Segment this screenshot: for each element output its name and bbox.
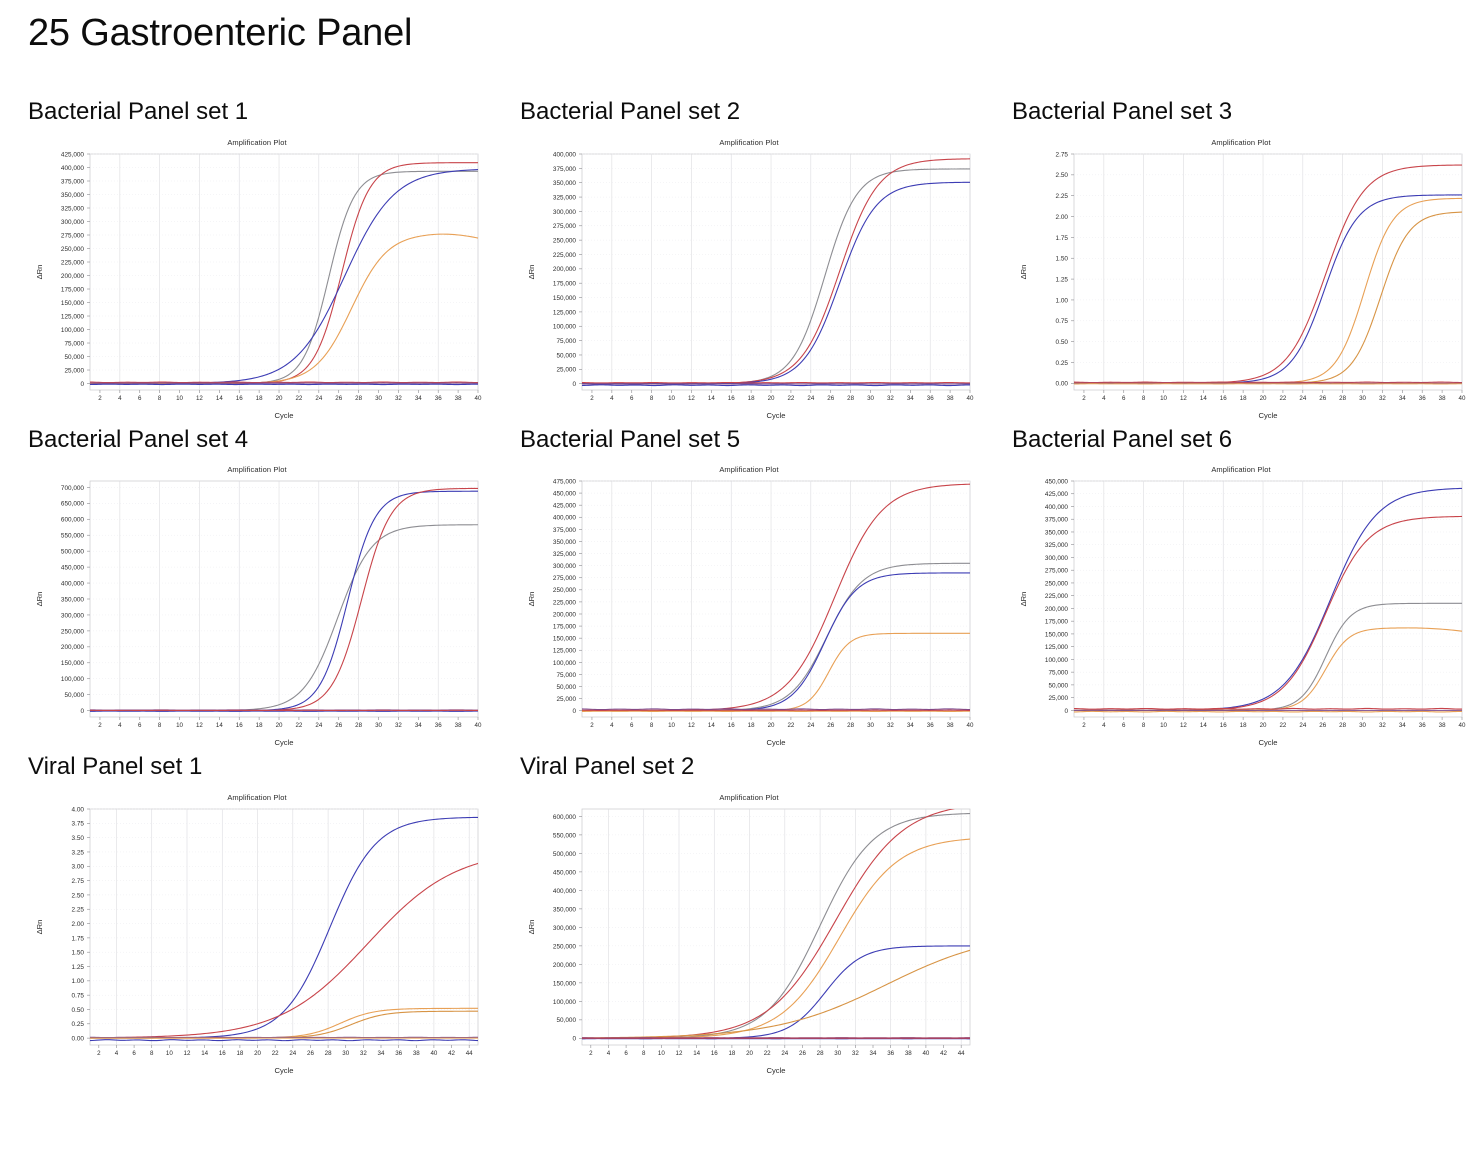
y-tick-label: 75,000 bbox=[1048, 670, 1068, 677]
x-tick-label: 30 bbox=[1359, 722, 1366, 729]
x-tick-label: 34 bbox=[378, 1050, 385, 1057]
x-tick-label: 36 bbox=[435, 395, 442, 402]
x-tick-label: 38 bbox=[455, 395, 462, 402]
x-tick-label: 38 bbox=[413, 1050, 420, 1057]
y-tick-label: 0.25 bbox=[72, 1021, 85, 1028]
y-tick-label: 400,000 bbox=[61, 164, 85, 171]
y-tick-label: 175,000 bbox=[553, 624, 577, 631]
panel-heading: Bacterial Panel set 1 bbox=[28, 98, 492, 126]
panel-bacterial-panel-set-4: Bacterial Panel set 4Amplification Plot0… bbox=[0, 426, 492, 754]
x-tick-label: 20 bbox=[768, 395, 775, 402]
y-tick-label: 200,000 bbox=[553, 962, 577, 969]
amplification-plot[interactable]: Amplification Plot0.000.250.500.751.001.… bbox=[28, 789, 486, 1081]
x-tick-label: 32 bbox=[887, 395, 894, 402]
x-tick-label: 4 bbox=[607, 1050, 611, 1057]
x-tick-label: 20 bbox=[1260, 395, 1267, 402]
amplification-plot-svg: 025,00050,00075,000100,000125,000150,000… bbox=[520, 134, 978, 426]
panel-bacterial-panel-set-2: Bacterial Panel set 2Amplification Plot0… bbox=[492, 98, 984, 426]
x-tick-label: 18 bbox=[236, 1050, 243, 1057]
panel-heading: Bacterial Panel set 6 bbox=[1012, 426, 1476, 454]
plot-area bbox=[90, 154, 478, 390]
x-axis-ticks: 246810121416182022242628303234363840 bbox=[590, 390, 974, 402]
x-tick-label: 28 bbox=[847, 722, 854, 729]
x-tick-label: 8 bbox=[650, 395, 654, 402]
x-axis-ticks: 2468101214161820222426283032343638404244 bbox=[589, 1045, 965, 1057]
x-tick-label: 36 bbox=[1419, 722, 1426, 729]
y-axis-ticks: 0.000.250.500.751.001.251.501.752.002.25… bbox=[1056, 151, 1074, 387]
x-tick-label: 2 bbox=[98, 395, 102, 402]
x-tick-label: 26 bbox=[799, 1050, 806, 1057]
x-tick-label: 40 bbox=[430, 1050, 437, 1057]
x-tick-label: 26 bbox=[335, 722, 342, 729]
series-baseline-red bbox=[1074, 709, 1462, 710]
y-tick-label: 325,000 bbox=[61, 205, 85, 212]
y-tick-label: 450,000 bbox=[1045, 479, 1069, 486]
x-axis-label: Cycle bbox=[767, 738, 786, 747]
plot-area bbox=[582, 154, 970, 390]
x-tick-label: 44 bbox=[466, 1050, 473, 1057]
y-axis-label: ΔRn bbox=[1019, 592, 1028, 607]
x-tick-label: 24 bbox=[315, 395, 322, 402]
y-tick-label: 225,000 bbox=[553, 599, 577, 606]
y-tick-label: 25,000 bbox=[1048, 695, 1068, 702]
amplification-plot[interactable]: Amplification Plot025,00050,00075,000100… bbox=[28, 134, 486, 426]
y-tick-label: 550,000 bbox=[61, 533, 85, 540]
x-tick-label: 12 bbox=[688, 395, 695, 402]
x-tick-label: 34 bbox=[907, 395, 914, 402]
y-axis-ticks: 050,000100,000150,000200,000250,000300,0… bbox=[61, 485, 90, 715]
y-tick-label: 225,000 bbox=[1045, 593, 1069, 600]
y-tick-label: 250,000 bbox=[1045, 581, 1069, 588]
x-tick-label: 32 bbox=[887, 722, 894, 729]
x-tick-label: 8 bbox=[642, 1050, 646, 1057]
x-tick-label: 2 bbox=[589, 1050, 593, 1057]
x-tick-label: 20 bbox=[276, 722, 283, 729]
y-tick-label: 25,000 bbox=[556, 366, 576, 373]
page-root: 25 Gastroenteric Panel Bacterial Panel s… bbox=[0, 0, 1476, 1155]
x-tick-label: 8 bbox=[158, 722, 162, 729]
y-tick-label: 600,000 bbox=[61, 517, 85, 524]
x-tick-label: 40 bbox=[922, 1050, 929, 1057]
y-tick-label: 50,000 bbox=[556, 1017, 576, 1024]
y-tick-label: 50,000 bbox=[556, 352, 576, 359]
y-tick-label: 150,000 bbox=[553, 295, 577, 302]
x-tick-label: 34 bbox=[415, 395, 422, 402]
y-tick-label: 100,000 bbox=[553, 999, 577, 1006]
y-tick-label: 150,000 bbox=[61, 660, 85, 667]
y-tick-label: 0.00 bbox=[1056, 380, 1069, 387]
x-tick-label: 6 bbox=[1122, 722, 1126, 729]
y-tick-label: 450,000 bbox=[553, 869, 577, 876]
x-tick-label: 16 bbox=[236, 395, 243, 402]
x-tick-label: 34 bbox=[1399, 722, 1406, 729]
plot-area bbox=[90, 481, 478, 717]
panel-heading: Bacterial Panel set 3 bbox=[1012, 98, 1476, 126]
x-tick-label: 12 bbox=[688, 722, 695, 729]
x-tick-label: 38 bbox=[455, 722, 462, 729]
x-tick-label: 26 bbox=[1319, 722, 1326, 729]
x-tick-label: 16 bbox=[1220, 722, 1227, 729]
y-tick-label: 425,000 bbox=[553, 503, 577, 510]
x-tick-label: 4 bbox=[1102, 395, 1106, 402]
y-axis-label: ΔRn bbox=[35, 919, 44, 934]
x-tick-label: 34 bbox=[907, 722, 914, 729]
x-tick-label: 24 bbox=[315, 722, 322, 729]
x-tick-label: 18 bbox=[748, 395, 755, 402]
y-tick-label: 2.75 bbox=[1056, 151, 1069, 158]
y-tick-label: 125,000 bbox=[1045, 644, 1069, 651]
y-tick-label: 425,000 bbox=[61, 151, 85, 158]
x-tick-label: 14 bbox=[1200, 722, 1207, 729]
amplification-plot[interactable]: Amplification Plot050,000100,000150,0002… bbox=[520, 789, 978, 1081]
x-tick-label: 26 bbox=[827, 395, 834, 402]
x-tick-label: 42 bbox=[940, 1050, 947, 1057]
x-tick-label: 42 bbox=[448, 1050, 455, 1057]
x-tick-label: 2 bbox=[1082, 722, 1086, 729]
y-tick-label: 0 bbox=[80, 708, 84, 715]
x-tick-label: 28 bbox=[355, 395, 362, 402]
x-axis-label: Cycle bbox=[1259, 411, 1278, 420]
panel-heading: Viral Panel set 2 bbox=[520, 753, 984, 781]
y-tick-label: 400,000 bbox=[553, 515, 577, 522]
x-tick-label: 24 bbox=[781, 1050, 788, 1057]
y-tick-label: 2.25 bbox=[1056, 193, 1069, 200]
amplification-plot-svg: 0.000.250.500.751.001.251.501.752.002.25… bbox=[28, 789, 486, 1081]
y-tick-label: 150,000 bbox=[61, 300, 85, 307]
y-tick-label: 250,000 bbox=[61, 628, 85, 635]
y-tick-label: 325,000 bbox=[1045, 542, 1069, 549]
x-axis-label: Cycle bbox=[275, 411, 294, 420]
x-tick-label: 36 bbox=[927, 722, 934, 729]
x-tick-label: 32 bbox=[360, 1050, 367, 1057]
y-tick-label: 0 bbox=[572, 1036, 576, 1043]
x-axis-label: Cycle bbox=[767, 411, 786, 420]
x-tick-label: 32 bbox=[395, 395, 402, 402]
y-tick-label: 2.50 bbox=[1056, 172, 1069, 179]
x-tick-label: 14 bbox=[708, 395, 715, 402]
y-axis-ticks: 050,000100,000150,000200,000250,000300,0… bbox=[553, 814, 582, 1043]
y-tick-label: 50,000 bbox=[64, 692, 84, 699]
x-tick-label: 22 bbox=[1279, 722, 1286, 729]
x-tick-label: 18 bbox=[1240, 722, 1247, 729]
x-tick-label: 16 bbox=[219, 1050, 226, 1057]
y-tick-label: 700,000 bbox=[61, 485, 85, 492]
x-tick-label: 22 bbox=[295, 722, 302, 729]
amplification-plot[interactable]: Amplification Plot0.000.250.500.751.001.… bbox=[1012, 134, 1470, 426]
y-tick-label: 100,000 bbox=[61, 327, 85, 334]
y-tick-label: 1.00 bbox=[1056, 297, 1069, 304]
x-tick-label: 34 bbox=[870, 1050, 877, 1057]
y-tick-label: 150,000 bbox=[1045, 632, 1069, 639]
amplification-plot[interactable]: Amplification Plot025,00050,00075,000100… bbox=[520, 134, 978, 426]
x-tick-label: 22 bbox=[1279, 395, 1286, 402]
x-axis-label: Cycle bbox=[275, 738, 294, 747]
page-title: 25 Gastroenteric Panel bbox=[28, 12, 412, 55]
x-tick-label: 32 bbox=[1379, 722, 1386, 729]
x-axis-ticks: 246810121416182022242628303234363840 bbox=[1082, 390, 1466, 402]
amplification-plot-svg: 025,00050,00075,000100,000125,000150,000… bbox=[1012, 461, 1470, 753]
y-tick-label: 1.75 bbox=[1056, 234, 1069, 241]
x-tick-label: 2 bbox=[590, 395, 594, 402]
y-tick-label: 400,000 bbox=[61, 581, 85, 588]
x-axis-ticks: 246810121416182022242628303234363840 bbox=[590, 717, 974, 729]
x-tick-label: 4 bbox=[610, 722, 614, 729]
y-tick-label: 125,000 bbox=[553, 648, 577, 655]
y-tick-label: 1.00 bbox=[72, 978, 85, 985]
x-tick-label: 16 bbox=[728, 395, 735, 402]
x-tick-label: 22 bbox=[787, 722, 794, 729]
plot-area bbox=[1074, 154, 1462, 390]
y-tick-label: 350,000 bbox=[553, 906, 577, 913]
x-tick-label: 14 bbox=[708, 722, 715, 729]
y-axis-ticks: 025,00050,00075,000100,000125,000150,000… bbox=[553, 151, 582, 388]
y-tick-label: 200,000 bbox=[61, 644, 85, 651]
y-tick-label: 475,000 bbox=[553, 479, 577, 486]
x-tick-label: 38 bbox=[1439, 722, 1446, 729]
y-tick-label: 350,000 bbox=[553, 539, 577, 546]
panel-viral-panel-set-2: Viral Panel set 2Amplification Plot050,0… bbox=[492, 753, 984, 1081]
x-tick-label: 8 bbox=[1142, 395, 1146, 402]
y-tick-label: 25,000 bbox=[64, 367, 84, 374]
y-tick-label: 400,000 bbox=[1045, 504, 1069, 511]
x-tick-label: 14 bbox=[693, 1050, 700, 1057]
x-tick-label: 16 bbox=[1220, 395, 1227, 402]
y-tick-label: 600,000 bbox=[553, 814, 577, 821]
x-tick-label: 30 bbox=[867, 395, 874, 402]
y-tick-label: 275,000 bbox=[553, 575, 577, 582]
x-tick-label: 16 bbox=[711, 1050, 718, 1057]
x-tick-label: 6 bbox=[624, 1050, 628, 1057]
panel-bacterial-panel-set-3: Bacterial Panel set 3Amplification Plot0… bbox=[984, 98, 1476, 426]
x-tick-label: 6 bbox=[630, 722, 634, 729]
y-axis-ticks: 025,00050,00075,000100,000125,000150,000… bbox=[553, 479, 582, 716]
y-tick-label: 100,000 bbox=[553, 323, 577, 330]
x-tick-label: 44 bbox=[958, 1050, 965, 1057]
amplification-plot[interactable]: Amplification Plot025,00050,00075,000100… bbox=[1012, 461, 1470, 753]
y-tick-label: 500,000 bbox=[553, 851, 577, 858]
x-tick-label: 6 bbox=[138, 395, 142, 402]
y-tick-label: 1.75 bbox=[72, 935, 85, 942]
y-axis-label: ΔRn bbox=[35, 592, 44, 607]
amplification-plot-svg: 0.000.250.500.751.001.251.501.752.002.25… bbox=[1012, 134, 1470, 426]
x-tick-label: 10 bbox=[668, 395, 675, 402]
amplification-plot-svg: 025,00050,00075,000100,000125,000150,000… bbox=[520, 461, 978, 753]
y-tick-label: 375,000 bbox=[1045, 517, 1069, 524]
x-tick-label: 40 bbox=[475, 722, 482, 729]
x-tick-label: 12 bbox=[196, 395, 203, 402]
y-tick-label: 250,000 bbox=[61, 246, 85, 253]
panel-row: Bacterial Panel set 4Amplification Plot0… bbox=[0, 426, 1476, 754]
y-tick-label: 0.50 bbox=[72, 1007, 85, 1014]
y-tick-label: 350,000 bbox=[61, 597, 85, 604]
x-tick-label: 34 bbox=[415, 722, 422, 729]
y-tick-label: 0 bbox=[572, 708, 576, 715]
amplification-plot-svg: 050,000100,000150,000200,000250,000300,0… bbox=[520, 789, 978, 1081]
x-tick-label: 4 bbox=[118, 722, 122, 729]
x-tick-label: 6 bbox=[1122, 395, 1126, 402]
x-tick-label: 16 bbox=[728, 722, 735, 729]
x-tick-label: 36 bbox=[1419, 395, 1426, 402]
y-tick-label: 350,000 bbox=[553, 180, 577, 187]
x-tick-label: 28 bbox=[355, 722, 362, 729]
panel-grid: Bacterial Panel set 1Amplification Plot0… bbox=[0, 98, 1476, 1081]
x-tick-label: 24 bbox=[289, 1050, 296, 1057]
x-axis-label: Cycle bbox=[767, 1066, 786, 1075]
x-tick-label: 2 bbox=[590, 722, 594, 729]
panel-row: Bacterial Panel set 1Amplification Plot0… bbox=[0, 98, 1476, 426]
x-tick-label: 18 bbox=[256, 722, 263, 729]
x-tick-label: 10 bbox=[1160, 722, 1167, 729]
y-tick-label: 0.75 bbox=[1056, 318, 1069, 325]
y-tick-label: 325,000 bbox=[553, 194, 577, 201]
panel-row: Viral Panel set 1Amplification Plot0.000… bbox=[0, 753, 1476, 1081]
y-tick-label: 550,000 bbox=[553, 832, 577, 839]
y-tick-label: 375,000 bbox=[553, 165, 577, 172]
y-tick-label: 75,000 bbox=[556, 672, 576, 679]
x-tick-label: 14 bbox=[201, 1050, 208, 1057]
y-tick-label: 125,000 bbox=[553, 309, 577, 316]
x-tick-label: 6 bbox=[138, 722, 142, 729]
y-tick-label: 250,000 bbox=[553, 587, 577, 594]
y-tick-label: 500,000 bbox=[61, 549, 85, 556]
x-tick-label: 20 bbox=[746, 1050, 753, 1057]
amplification-plot-svg: 025,00050,00075,000100,000125,000150,000… bbox=[28, 134, 486, 426]
x-tick-label: 18 bbox=[748, 722, 755, 729]
x-tick-label: 12 bbox=[676, 1050, 683, 1057]
y-tick-label: 375,000 bbox=[553, 527, 577, 534]
x-tick-label: 10 bbox=[176, 722, 183, 729]
x-tick-label: 10 bbox=[166, 1050, 173, 1057]
y-tick-label: 2.00 bbox=[72, 921, 85, 928]
panel-heading: Bacterial Panel set 5 bbox=[520, 426, 984, 454]
x-tick-label: 32 bbox=[852, 1050, 859, 1057]
x-tick-label: 4 bbox=[1102, 722, 1106, 729]
x-tick-label: 28 bbox=[847, 395, 854, 402]
amplification-plot[interactable]: Amplification Plot050,000100,000150,0002… bbox=[28, 461, 486, 753]
x-tick-label: 40 bbox=[967, 722, 974, 729]
panel-bacterial-panel-set-5: Bacterial Panel set 5Amplification Plot0… bbox=[492, 426, 984, 754]
x-tick-label: 38 bbox=[905, 1050, 912, 1057]
x-tick-label: 22 bbox=[295, 395, 302, 402]
x-tick-label: 36 bbox=[435, 722, 442, 729]
y-tick-label: 75,000 bbox=[556, 338, 576, 345]
y-axis-label: ΔRn bbox=[527, 919, 536, 934]
x-axis-label: Cycle bbox=[275, 1066, 294, 1075]
x-tick-label: 30 bbox=[834, 1050, 841, 1057]
y-tick-label: 300,000 bbox=[553, 208, 577, 215]
y-tick-label: 0.75 bbox=[72, 992, 85, 999]
x-tick-label: 14 bbox=[1200, 395, 1207, 402]
y-tick-label: 275,000 bbox=[1045, 568, 1069, 575]
x-tick-label: 18 bbox=[728, 1050, 735, 1057]
y-tick-label: 300,000 bbox=[61, 218, 85, 225]
x-tick-label: 22 bbox=[764, 1050, 771, 1057]
y-tick-label: 200,000 bbox=[553, 266, 577, 273]
amplification-plot-svg: 050,000100,000150,000200,000250,000300,0… bbox=[28, 461, 486, 753]
y-tick-label: 75,000 bbox=[64, 340, 84, 347]
y-axis-ticks: 025,00050,00075,000100,000125,000150,000… bbox=[61, 151, 90, 388]
x-axis-ticks: 246810121416182022242628303234363840 bbox=[98, 390, 482, 402]
x-tick-label: 18 bbox=[256, 395, 263, 402]
x-tick-label: 28 bbox=[325, 1050, 332, 1057]
y-tick-label: 250,000 bbox=[553, 943, 577, 950]
y-tick-label: 0.25 bbox=[1056, 359, 1069, 366]
x-axis-ticks: 246810121416182022242628303234363840 bbox=[98, 717, 482, 729]
x-tick-label: 12 bbox=[196, 722, 203, 729]
x-tick-label: 32 bbox=[395, 722, 402, 729]
y-tick-label: 175,000 bbox=[1045, 619, 1069, 626]
x-tick-label: 28 bbox=[1339, 722, 1346, 729]
y-tick-label: 150,000 bbox=[553, 980, 577, 987]
y-tick-label: 50,000 bbox=[1048, 682, 1068, 689]
y-tick-label: 200,000 bbox=[61, 273, 85, 280]
x-tick-label: 8 bbox=[150, 1050, 154, 1057]
y-tick-label: 25,000 bbox=[556, 696, 576, 703]
x-tick-label: 30 bbox=[375, 395, 382, 402]
panel-bacterial-panel-set-6: Bacterial Panel set 6Amplification Plot0… bbox=[984, 426, 1476, 754]
y-tick-label: 200,000 bbox=[553, 612, 577, 619]
y-tick-label: 1.25 bbox=[72, 964, 85, 971]
y-tick-label: 4.00 bbox=[72, 806, 85, 813]
x-tick-label: 26 bbox=[1319, 395, 1326, 402]
x-tick-label: 6 bbox=[630, 395, 634, 402]
y-tick-label: 250,000 bbox=[553, 237, 577, 244]
y-axis-label: ΔRn bbox=[35, 264, 44, 279]
x-tick-label: 10 bbox=[1160, 395, 1167, 402]
x-tick-label: 26 bbox=[307, 1050, 314, 1057]
x-tick-label: 2 bbox=[97, 1050, 101, 1057]
x-tick-label: 24 bbox=[1299, 395, 1306, 402]
x-tick-label: 10 bbox=[668, 722, 675, 729]
y-tick-label: 3.25 bbox=[72, 849, 85, 856]
x-tick-label: 26 bbox=[827, 722, 834, 729]
y-tick-label: 0.00 bbox=[72, 1035, 85, 1042]
y-tick-label: 425,000 bbox=[1045, 491, 1069, 498]
x-tick-label: 28 bbox=[817, 1050, 824, 1057]
y-tick-label: 100,000 bbox=[61, 676, 85, 683]
y-tick-label: 3.00 bbox=[72, 863, 85, 870]
x-axis-label: Cycle bbox=[1259, 738, 1278, 747]
y-axis-ticks: 0.000.250.500.751.001.251.501.752.002.25… bbox=[72, 806, 90, 1042]
y-axis-ticks: 025,00050,00075,000100,000125,000150,000… bbox=[1045, 479, 1074, 715]
x-tick-label: 34 bbox=[1399, 395, 1406, 402]
x-tick-label: 10 bbox=[658, 1050, 665, 1057]
x-tick-label: 12 bbox=[1180, 722, 1187, 729]
y-tick-label: 400,000 bbox=[553, 888, 577, 895]
x-tick-label: 36 bbox=[927, 395, 934, 402]
amplification-plot[interactable]: Amplification Plot025,00050,00075,000100… bbox=[520, 461, 978, 753]
y-tick-label: 175,000 bbox=[61, 286, 85, 293]
y-tick-label: 0 bbox=[80, 381, 84, 388]
x-tick-label: 8 bbox=[1142, 722, 1146, 729]
panel-heading: Bacterial Panel set 4 bbox=[28, 426, 492, 454]
x-tick-label: 20 bbox=[276, 395, 283, 402]
series-baseline-red bbox=[90, 382, 478, 383]
y-tick-label: 350,000 bbox=[1045, 530, 1069, 537]
y-tick-label: 650,000 bbox=[61, 501, 85, 508]
x-tick-label: 30 bbox=[375, 722, 382, 729]
y-tick-label: 1.50 bbox=[1056, 255, 1069, 262]
y-tick-label: 1.25 bbox=[1056, 276, 1069, 283]
x-tick-label: 38 bbox=[947, 722, 954, 729]
plot-area bbox=[582, 809, 970, 1045]
x-tick-label: 12 bbox=[1180, 395, 1187, 402]
x-tick-label: 16 bbox=[236, 722, 243, 729]
y-tick-label: 0 bbox=[1064, 708, 1068, 715]
x-tick-label: 30 bbox=[342, 1050, 349, 1057]
y-tick-label: 125,000 bbox=[61, 313, 85, 320]
x-tick-label: 40 bbox=[1459, 395, 1466, 402]
